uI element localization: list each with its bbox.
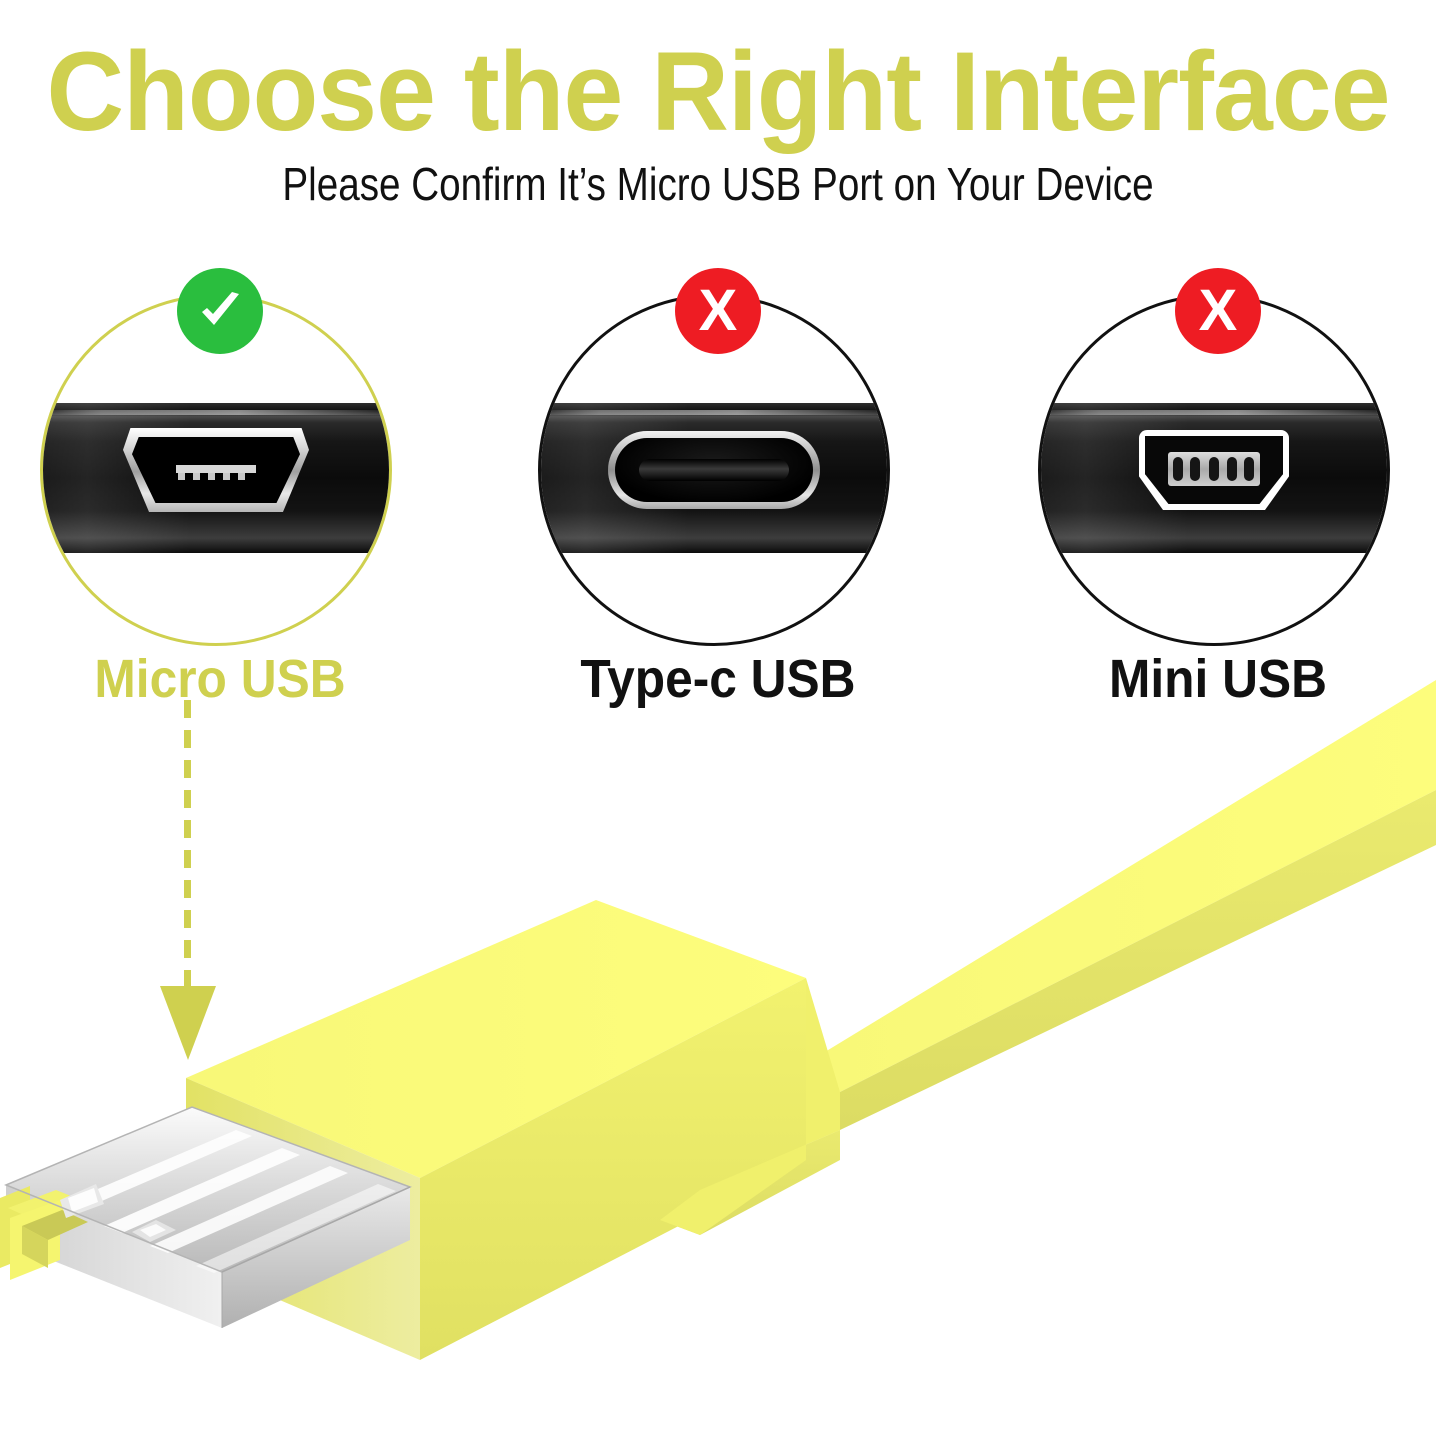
page-title: Choose the Right Interface — [29, 36, 1408, 148]
check-badge — [177, 268, 263, 354]
type-c-tongue — [639, 459, 789, 481]
type-c-port-icon — [608, 431, 820, 509]
x-badge: X — [675, 268, 761, 354]
type-c-port-cavity — [615, 438, 813, 502]
x-icon-glyph: X — [699, 282, 738, 340]
x-badge: X — [1175, 268, 1261, 354]
page-subtitle: Please Confirm It’s Micro USB Port on Yo… — [115, 158, 1321, 210]
micro-usb-port-icon — [123, 428, 309, 512]
infographic-canvas: Choose the Right Interface Please Confir… — [0, 0, 1436, 1436]
x-icon-glyph: X — [1199, 282, 1238, 340]
micro-usb-pin-bar — [176, 465, 256, 473]
mini-usb-pin-block — [1168, 452, 1260, 486]
port-card-mini-usb: X Mini USB — [1038, 294, 1398, 686]
port-card-type-c-usb: X Type-c USB — [538, 294, 898, 686]
mini-usb-port-icon — [1139, 430, 1289, 510]
mini-usb-port-cavity — [1145, 436, 1283, 504]
micro-usb-port-cavity — [132, 437, 300, 503]
product-cable-image — [0, 660, 1436, 1436]
port-card-micro-usb: Micro USB — [40, 294, 400, 686]
